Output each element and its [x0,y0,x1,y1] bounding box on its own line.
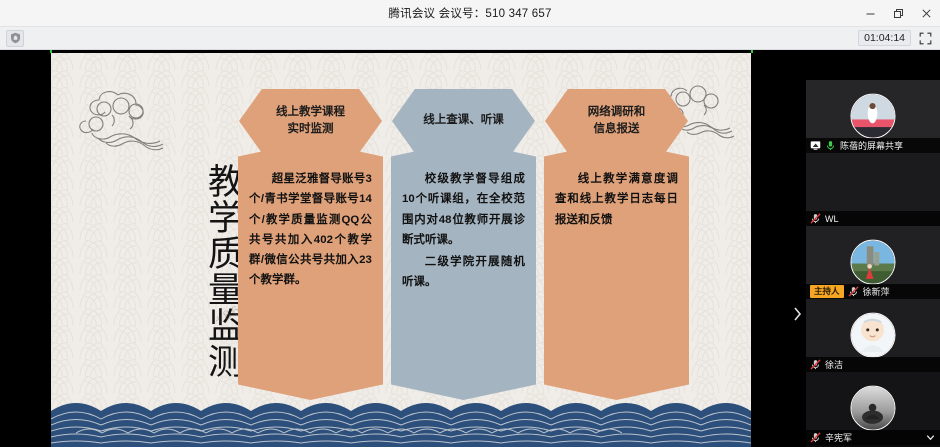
chevron-down-icon[interactable] [925,432,936,443]
avatar [851,385,896,430]
avatar [851,239,896,284]
diagram-detail-paragraph: 超星泛雅督导账号3个/青书学堂督导账号14个/教学质量监测QQ公共号共加入402… [238,141,383,291]
microphone-muted-icon [810,213,821,224]
window-controls [856,0,940,27]
security-icon[interactable] [6,30,24,47]
screen-share-icon [810,140,821,151]
participant-tile[interactable]: 徐洁 [806,299,940,372]
diagram-detail-paragraph: 校级教学督导组成10个听课组，在全校范围内对48位教师开展诊断式听课。 [391,141,536,250]
microphone-muted-icon [810,432,821,443]
participant-tile[interactable]: 辛宪军 [806,372,940,445]
participant-namebar: WL [806,211,940,226]
shared-screen-stage: 教学质量监测 +8613865998000 WL 线上教学课程实时监测 线上查课… [0,50,940,447]
diagram-detail-paragraph: 二级学院开展随机听课。 [391,250,536,293]
window-title: 腾讯会议 会议号：510 347 657 [388,5,551,21]
diagram-top-box-label: 线上查课、听课 [411,112,516,129]
participant-name: WL [825,214,839,224]
avatar [851,312,896,357]
participant-tile[interactable]: WL [806,153,940,226]
wave-ornament [51,385,751,447]
host-badge: 主持人 [810,285,844,297]
chevron-right-icon [793,307,802,321]
microphone-on-icon [825,140,836,151]
meeting-timer: 01:04:14 [858,30,911,46]
collapse-panel-button[interactable] [790,303,804,325]
diagram-detail-box: 超星泛雅督导账号3个/青书学堂督导账号14个/教学质量监测QQ公共号共加入402… [238,141,383,400]
close-button[interactable] [912,0,940,27]
participant-namebar: 主持人 徐新萍 [806,284,940,299]
diagram-detail-box: 校级教学督导组成10个听课组，在全校范围内对48位教师开展诊断式听课。 二级学院… [391,141,536,400]
participant-name: 陈蓓的屏幕共享 [840,139,903,152]
participant-name: 徐新萍 [863,285,890,298]
participant-namebar: 辛宪军 [806,430,940,445]
diagram-top-box-label: 网络调研和信息报送 [576,104,658,139]
tencent-meeting-window: 腾讯会议 会议号：510 347 657 [0,0,940,447]
participant-name: 辛宪军 [825,431,852,444]
participant-namebar: 陈蓓的屏幕共享 [806,138,940,153]
diagram-top-box-label: 线上教学课程实时监测 [264,104,357,139]
presentation-slide: 教学质量监测 +8613865998000 WL 线上教学课程实时监测 线上查课… [51,53,751,447]
toolbar-right-group: 01:04:14 [858,30,932,46]
avatar [851,93,896,138]
participant-strip[interactable]: 陈蓓的屏幕共享 WL [806,80,940,447]
diagram-detail-box: 线上教学满意度调查和线上教学日志每日报送和反馈 [544,141,689,400]
participant-tile[interactable]: 陈蓓的屏幕共享 [806,80,940,153]
participant-namebar: 徐洁 [806,357,940,372]
share-border-right [751,50,753,53]
meeting-toolbar: 01:04:14 [0,27,940,50]
minimize-button[interactable] [856,0,884,27]
participant-tile[interactable]: 主持人 徐新萍 [806,226,940,299]
fullscreen-icon[interactable] [918,31,932,45]
title-bar: 腾讯会议 会议号：510 347 657 [0,0,940,27]
diagram-detail-paragraph: 线上教学满意度调查和线上教学日志每日报送和反馈 [544,141,689,230]
microphone-muted-icon [848,286,859,297]
participant-name: 徐洁 [825,358,843,371]
microphone-muted-icon [810,359,821,370]
restore-button[interactable] [884,0,912,27]
